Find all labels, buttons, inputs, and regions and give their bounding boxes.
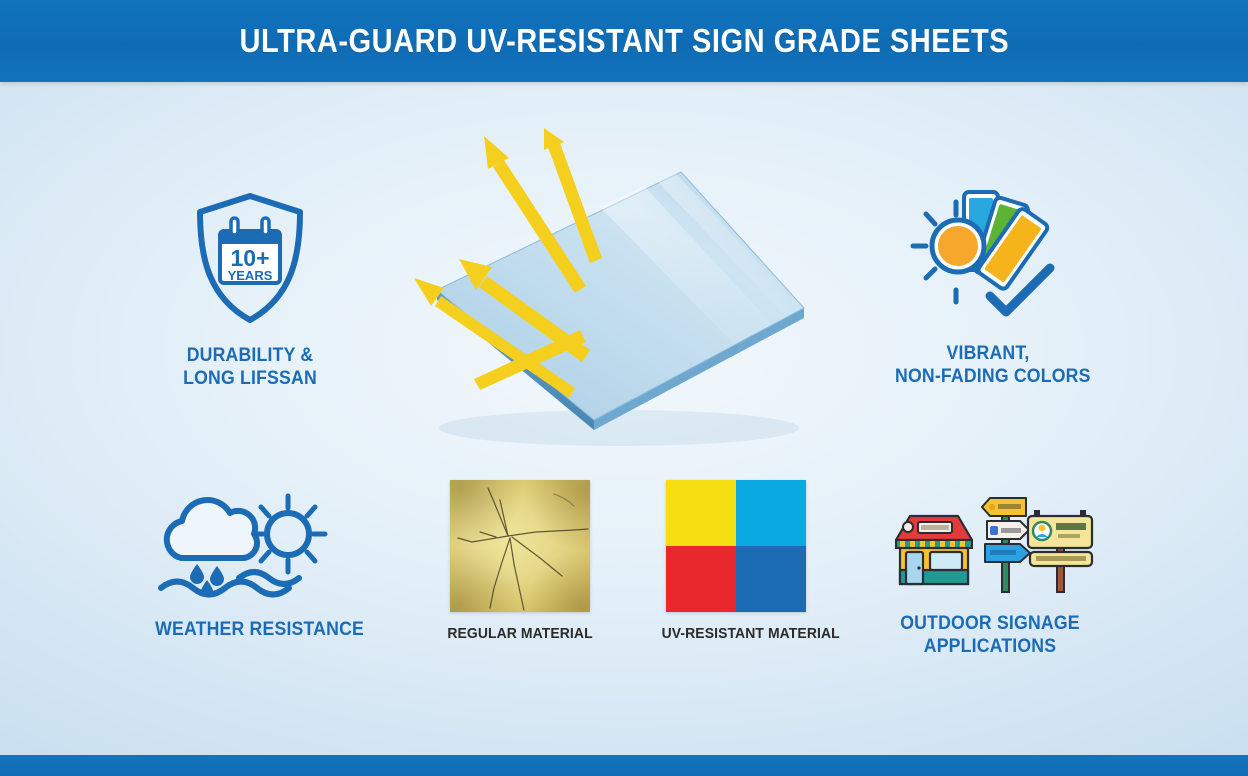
signpost-white-text xyxy=(1001,528,1021,533)
feature-caption-line1: OUTDOOR SIGNAGE xyxy=(891,612,1088,635)
feature-caption: WEATHER RESISTANCE xyxy=(155,618,345,641)
quadrant-yellow xyxy=(666,480,736,546)
material-comparison: REGULAR MATERIAL UV-RESISTANT MATERIAL xyxy=(440,480,816,660)
comparison-uv-resistant: UV-RESISTANT MATERIAL xyxy=(656,480,816,660)
calendar-header xyxy=(220,231,280,244)
comparison-regular: REGULAR MATERIAL xyxy=(440,480,600,660)
weather-sun-disc xyxy=(267,513,309,555)
weather-sun-rays xyxy=(251,496,325,572)
hanging-board-sign-icon xyxy=(1028,510,1092,592)
infographic-poster: ULTRA-GUARD UV-RESISTANT SIGN GRADE SHEE… xyxy=(0,0,1248,776)
feature-caption-line1: VIBRANT, xyxy=(895,342,1081,365)
feature-caption: OUTDOOR SIGNAGE APPLICATIONS xyxy=(891,612,1088,658)
feature-caption-line1: DURABILITY & xyxy=(157,344,343,367)
feature-outdoor-signage: OUTDOOR SIGNAGE APPLICATIONS xyxy=(884,488,1096,658)
feature-caption-line1: WEATHER RESISTANCE xyxy=(155,618,345,641)
signpost-white-badge xyxy=(990,526,998,535)
shield-calendar-svg: 10+ YEARS xyxy=(190,190,310,330)
feature-vibrant-colors: VIBRANT, NON-FADING COLORS xyxy=(888,186,1088,388)
storefront-logo-badge xyxy=(903,522,913,532)
comparison-regular-caption: REGULAR MATERIAL xyxy=(446,625,595,642)
page-title: ULTRA-GUARD UV-RESISTANT SIGN GRADE SHEE… xyxy=(239,22,1009,60)
board-sign-title-text xyxy=(1056,523,1086,530)
sun-color-swatches-check-icon xyxy=(888,186,1088,330)
feature-caption-line2: APPLICATIONS xyxy=(891,635,1088,658)
comparison-uv-caption: UV-RESISTANT MATERIAL xyxy=(662,625,811,642)
storefront-door-handle xyxy=(917,566,920,569)
feature-caption-line2: NON-FADING COLORS xyxy=(895,365,1081,388)
quadrant-cyan xyxy=(736,480,806,546)
cloud-shape xyxy=(167,500,257,558)
calendar-ring-right xyxy=(262,218,269,235)
water-waves xyxy=(161,572,299,595)
cloud-rain-sun-waves-icon xyxy=(148,492,352,602)
header-banner: ULTRA-GUARD UV-RESISTANT SIGN GRADE SHEE… xyxy=(0,0,1248,82)
quadrant-red xyxy=(666,546,736,612)
vibrant-icon-svg xyxy=(898,186,1078,330)
four-quadrant-color-swatch xyxy=(666,480,806,612)
sheet-svg xyxy=(404,128,834,458)
hero-sheet-illustration xyxy=(404,128,834,458)
feature-caption: DURABILITY & LONG LIFSSAN xyxy=(157,344,343,390)
weather-icon-svg xyxy=(155,492,345,602)
feature-caption: VIBRANT, NON-FADING COLORS xyxy=(895,342,1081,388)
storefront-window xyxy=(930,552,962,570)
storefront-sign-text xyxy=(921,525,949,530)
board-sign-lower-text xyxy=(1036,556,1086,561)
feature-durability: 10+ YEARS DURABILITY & LONG LIFSSAN xyxy=(150,190,350,390)
footer-banner xyxy=(0,755,1248,776)
feature-caption-line2: LONG LIFSSAN xyxy=(157,367,343,390)
feature-weather-resistance: WEATHER RESISTANCE xyxy=(148,492,352,641)
signage-icon-svg xyxy=(884,488,1096,600)
calendar-ring-left xyxy=(231,218,238,235)
signpost-blue-text xyxy=(990,550,1016,555)
quadrant-blue xyxy=(736,546,806,612)
cracked-yellowed-swatch xyxy=(450,480,590,612)
crack-lines xyxy=(458,488,588,610)
direction-signpost-icon xyxy=(982,498,1030,592)
signpost-yellow-text xyxy=(998,504,1021,509)
shield-calendar-icon: 10+ YEARS xyxy=(150,190,350,330)
badge-unit: YEARS xyxy=(228,268,273,283)
signpost-yellow-dot xyxy=(989,504,995,510)
storefront-signpost-icon xyxy=(884,488,1096,600)
board-sign-sub-text xyxy=(1058,534,1080,538)
sun-disc-fill xyxy=(938,226,978,266)
board-sign-emblem-dot xyxy=(1039,525,1046,532)
crack-lines-svg xyxy=(450,480,590,612)
storefront-icon xyxy=(896,516,972,584)
